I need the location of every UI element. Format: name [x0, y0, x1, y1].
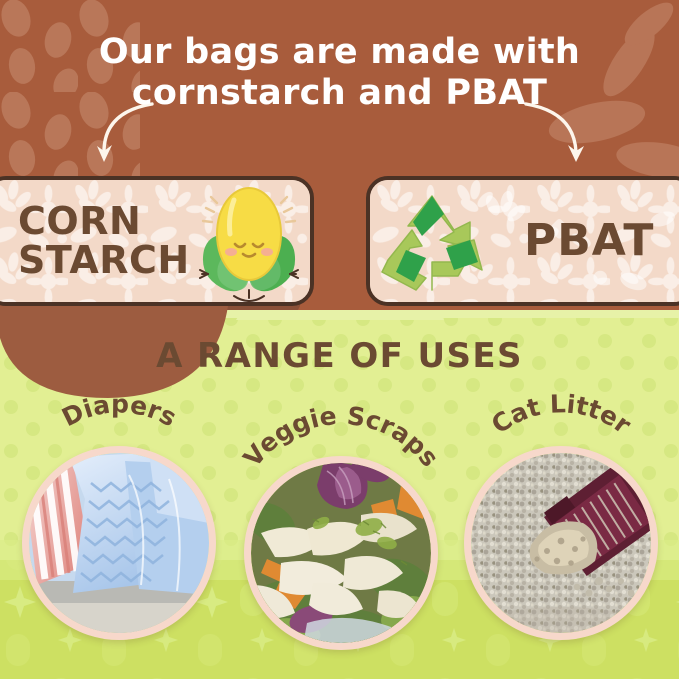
section-heading: A RANGE OF USES: [0, 336, 679, 376]
diapers-photo: [22, 446, 216, 640]
recycle-icon: [370, 178, 520, 304]
left-curved-arrow: [104, 104, 152, 152]
corn-mascot-icon: [190, 178, 308, 304]
cat-litter-photo: [464, 446, 658, 640]
right-curved-arrow: [526, 104, 576, 152]
ingredient-card-cornstarch: CORN STARCH: [0, 176, 314, 306]
veggie-scraps-photo: [244, 456, 438, 650]
pbat-label: PBAT: [524, 219, 654, 264]
ingredient-card-pbat: PBAT: [366, 176, 679, 306]
infographic-poster: Our bags are made with cornstarch and PB…: [0, 0, 679, 679]
cornstarch-label: CORN STARCH: [18, 202, 190, 280]
